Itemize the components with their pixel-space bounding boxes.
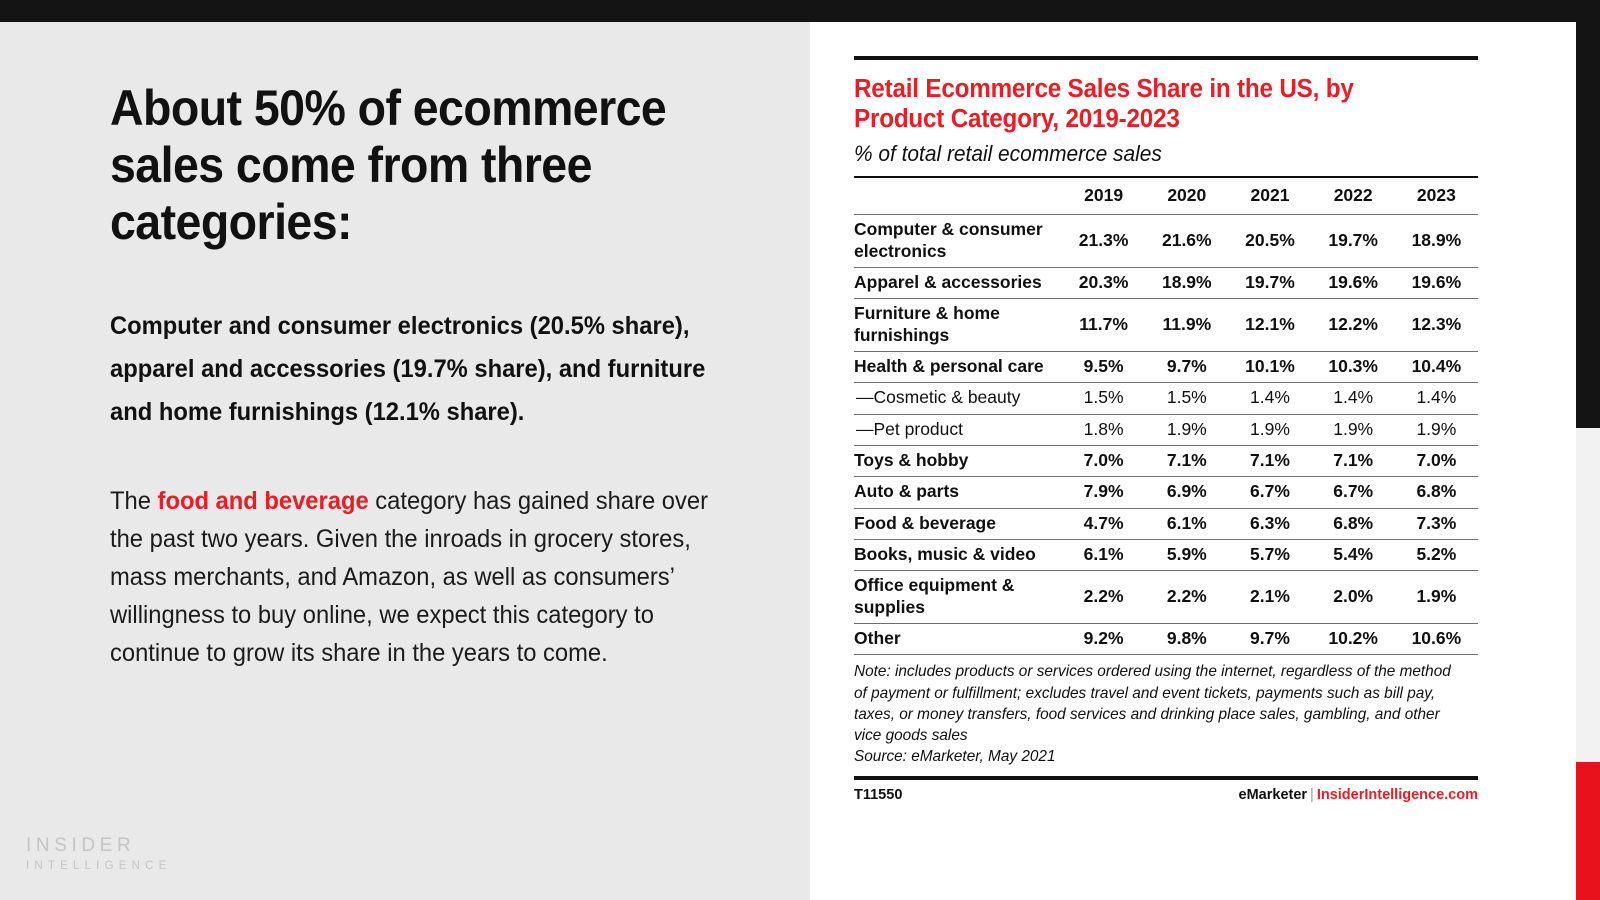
row-label: Food & beverage [854, 508, 1062, 539]
row-label: Office equipment & supplies [854, 571, 1062, 624]
commentary-text-pre: The [110, 487, 158, 515]
table-row: Health & personal care9.5%9.7%10.1%10.3%… [854, 351, 1478, 382]
row-label: —Pet product [854, 414, 1062, 445]
row-value: 6.3% [1228, 508, 1311, 539]
row-value: 1.9% [1228, 414, 1311, 445]
row-value: 10.6% [1395, 623, 1478, 654]
chart-source: Source: eMarketer, May 2021 [854, 746, 1453, 767]
commentary-highlight: food and beverage [158, 487, 369, 515]
table-row: Other9.2%9.8%9.7%10.2%10.6% [854, 623, 1478, 654]
chart-subtitle: % of total retail ecommerce sales [854, 141, 1447, 167]
row-value: 10.1% [1228, 351, 1311, 382]
row-value: 12.2% [1312, 299, 1395, 352]
row-value: 11.9% [1145, 299, 1228, 352]
row-label: Computer & consumer electronics [854, 215, 1062, 268]
row-value: 9.7% [1145, 351, 1228, 382]
table-row: Toys & hobby7.0%7.1%7.1%7.1%7.0% [854, 445, 1478, 476]
column-header-2021: 2021 [1228, 177, 1311, 215]
top-accent-bar [0, 0, 1600, 22]
row-value: 1.5% [1062, 383, 1145, 414]
row-label: Books, music & video [854, 539, 1062, 570]
row-value: 10.2% [1312, 623, 1395, 654]
table-row: Auto & parts7.9%6.9%6.7%6.7%6.8% [854, 477, 1478, 508]
row-value: 19.7% [1228, 267, 1311, 298]
row-value: 1.9% [1312, 414, 1395, 445]
row-label: —Cosmetic & beauty [854, 383, 1062, 414]
row-value: 7.0% [1395, 445, 1478, 476]
row-label: Health & personal care [854, 351, 1062, 382]
row-label: Furniture & home furnishings [854, 299, 1062, 352]
right-gray-accent-bar [1576, 428, 1600, 762]
row-value: 1.4% [1395, 383, 1478, 414]
row-value: 2.0% [1312, 571, 1395, 624]
row-value: 10.4% [1395, 351, 1478, 382]
row-value: 6.1% [1062, 539, 1145, 570]
slide-root: About 50% of ecommerce sales come from t… [0, 0, 1600, 900]
row-value: 5.2% [1395, 539, 1478, 570]
key-stats-paragraph: Computer and consumer electronics (20.5%… [110, 305, 718, 434]
row-value: 4.7% [1062, 508, 1145, 539]
row-value: 7.0% [1062, 445, 1145, 476]
row-value: 6.1% [1145, 508, 1228, 539]
row-value: 6.7% [1312, 477, 1395, 508]
table-corner-cell [854, 177, 1062, 215]
row-value: 7.1% [1312, 445, 1395, 476]
column-header-2019: 2019 [1062, 177, 1145, 215]
row-label: Other [854, 623, 1062, 654]
row-value: 1.8% [1062, 414, 1145, 445]
row-value: 5.7% [1228, 539, 1311, 570]
row-value: 5.9% [1145, 539, 1228, 570]
table-row: —Cosmetic & beauty1.5%1.5%1.4%1.4%1.4% [854, 383, 1478, 414]
chart-id-code: T11550 [854, 787, 902, 803]
row-value: 9.2% [1062, 623, 1145, 654]
row-value: 7.1% [1145, 445, 1228, 476]
row-value: 1.5% [1145, 383, 1228, 414]
row-value: 20.5% [1228, 215, 1311, 268]
brand-attribution: eMarketer|InsiderIntelligence.com [1239, 787, 1478, 803]
chart-note: Note: includes products or services orde… [854, 661, 1453, 746]
row-value: 21.6% [1145, 215, 1228, 268]
logo-line-intelligence: INTELLIGENCE [26, 860, 171, 872]
row-value: 2.1% [1228, 571, 1311, 624]
row-value: 1.9% [1145, 414, 1228, 445]
table-row: Apparel & accessories20.3%18.9%19.7%19.6… [854, 267, 1478, 298]
insider-intelligence-logo: INSIDER INTELLIGENCE [26, 835, 171, 872]
row-value: 1.9% [1395, 571, 1478, 624]
brand-domain-link[interactable]: InsiderIntelligence.com [1317, 787, 1478, 803]
row-value: 1.9% [1395, 414, 1478, 445]
row-value: 19.6% [1312, 267, 1395, 298]
row-value: 18.9% [1395, 215, 1478, 268]
row-value: 6.8% [1395, 477, 1478, 508]
row-value: 2.2% [1062, 571, 1145, 624]
table-row: Office equipment & supplies2.2%2.2%2.1%2… [854, 571, 1478, 624]
row-value: 9.8% [1145, 623, 1228, 654]
row-value: 21.3% [1062, 215, 1145, 268]
page-title: About 50% of ecommerce sales come from t… [110, 80, 705, 251]
right-red-accent-bar [1576, 762, 1600, 900]
table-row: Food & beverage4.7%6.1%6.3%6.8%7.3% [854, 508, 1478, 539]
logo-line-insider: INSIDER [26, 835, 171, 857]
row-value: 19.7% [1312, 215, 1395, 268]
row-value: 18.9% [1145, 267, 1228, 298]
row-value: 9.7% [1228, 623, 1311, 654]
right-dark-accent-bar [1576, 0, 1600, 428]
chart-title: Retail Ecommerce Sales Share in the US, … [854, 74, 1447, 134]
table-body: Computer & consumer electronics21.3%21.6… [854, 215, 1478, 655]
row-value: 9.5% [1062, 351, 1145, 382]
table-row: —Pet product1.8%1.9%1.9%1.9%1.9% [854, 414, 1478, 445]
row-value: 20.3% [1062, 267, 1145, 298]
table-row: Furniture & home furnishings11.7%11.9%12… [854, 299, 1478, 352]
row-value: 10.3% [1312, 351, 1395, 382]
table-header-row: 2019 2020 2021 2022 2023 [854, 177, 1478, 215]
row-label: Toys & hobby [854, 445, 1062, 476]
chart-panel: Retail Ecommerce Sales Share in the US, … [854, 56, 1478, 803]
row-value: 7.9% [1062, 477, 1145, 508]
brand-emarketer: eMarketer [1239, 787, 1308, 803]
row-label: Auto & parts [854, 477, 1062, 508]
row-value: 1.4% [1312, 383, 1395, 414]
row-value: 1.4% [1228, 383, 1311, 414]
brand-separator: | [1307, 787, 1317, 803]
table-row: Books, music & video6.1%5.9%5.7%5.4%5.2% [854, 539, 1478, 570]
row-value: 2.2% [1145, 571, 1228, 624]
row-value: 6.7% [1228, 477, 1311, 508]
row-value: 12.1% [1228, 299, 1311, 352]
row-label: Apparel & accessories [854, 267, 1062, 298]
row-value: 6.9% [1145, 477, 1228, 508]
data-table: 2019 2020 2021 2022 2023 Computer & cons… [854, 176, 1478, 655]
row-value: 5.4% [1312, 539, 1395, 570]
chart-top-rule [854, 56, 1478, 60]
chart-footer: T11550 eMarketer|InsiderIntelligence.com [854, 780, 1478, 803]
column-header-2020: 2020 [1145, 177, 1228, 215]
left-text-panel: About 50% of ecommerce sales come from t… [0, 22, 810, 900]
row-value: 7.1% [1228, 445, 1311, 476]
commentary-paragraph: The food and beverage category has gaine… [110, 482, 718, 672]
row-value: 19.6% [1395, 267, 1478, 298]
table-head: 2019 2020 2021 2022 2023 [854, 177, 1478, 215]
row-value: 7.3% [1395, 508, 1478, 539]
row-value: 11.7% [1062, 299, 1145, 352]
column-header-2023: 2023 [1395, 177, 1478, 215]
column-header-2022: 2022 [1312, 177, 1395, 215]
table-row: Computer & consumer electronics21.3%21.6… [854, 215, 1478, 268]
row-value: 12.3% [1395, 299, 1478, 352]
row-value: 6.8% [1312, 508, 1395, 539]
